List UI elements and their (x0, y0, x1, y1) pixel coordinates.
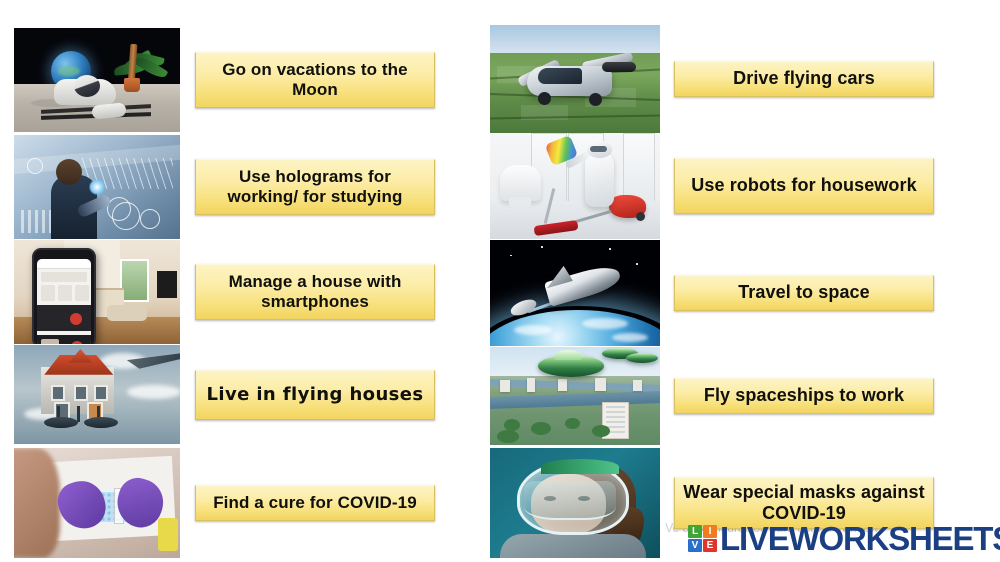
answer-label[interactable]: Go on vacations to the Moon (195, 52, 435, 108)
smart-home-phone-photo (14, 240, 180, 344)
logo-letter-v: V (688, 539, 702, 552)
list-item: Manage a house with smartphones (0, 240, 470, 344)
moon-vacation-photo (14, 28, 180, 132)
answer-label-text: Drive flying cars (733, 68, 875, 89)
logo-letter-e: E (703, 539, 717, 552)
answer-label[interactable]: Live in flying houses (195, 370, 435, 420)
left-column: Go on vacations to the Moon (0, 0, 470, 562)
logo-letter-l: L (688, 525, 702, 538)
list-item: Use robots for housework (480, 133, 1000, 239)
flying-car-photo (490, 25, 660, 133)
answer-label[interactable]: Drive flying cars (674, 61, 934, 97)
liveworksheets-mark-icon: L I V E (688, 525, 717, 552)
list-item: Fly spaceships to work (480, 347, 1000, 445)
answer-label[interactable]: Find a cure for COVID-19 (195, 485, 435, 521)
list-item: Use holograms for working/ for studying (0, 135, 470, 239)
list-item: Go on vacations to the Moon (0, 28, 470, 132)
list-item: Drive flying cars (480, 25, 1000, 133)
logo-letter-i: I (703, 525, 717, 538)
right-column: Drive flying cars (480, 0, 1000, 562)
answer-label[interactable]: Use robots for housework (674, 158, 934, 214)
answer-label-text: Live in flying houses (207, 384, 424, 405)
answer-label-text: Travel to space (738, 282, 870, 303)
answer-label-text: Fly spaceships to work (704, 385, 904, 406)
answer-label-text: Manage a house with smartphones (204, 272, 426, 312)
answer-label[interactable]: Use holograms for working/ for studying (195, 159, 435, 215)
list-item: Travel to space (480, 240, 1000, 346)
ufo-city-photo (490, 347, 660, 445)
list-item: Live in flying houses (0, 345, 470, 444)
logo-wordmark: LIVEWORKSHEETS (720, 522, 1000, 555)
answer-label[interactable]: Travel to space (674, 275, 934, 311)
answer-label[interactable]: Manage a house with smartphones (195, 264, 435, 320)
worksheet-canvas: Activar Windows Ve a Configuración para … (0, 0, 1000, 562)
flying-house-photo (14, 345, 180, 444)
answer-label-text: Wear special masks against COVID-19 (683, 482, 925, 524)
answer-label-text: Use robots for housework (691, 175, 916, 196)
protective-mask-photo (490, 448, 660, 558)
spaceship-orbit-photo (490, 240, 660, 346)
answer-label-text: Go on vacations to the Moon (204, 60, 426, 100)
housework-robot-photo (490, 133, 660, 239)
answer-label-text: Use holograms for working/ for studying (204, 167, 426, 207)
answer-label[interactable]: Fly spaceships to work (674, 378, 934, 414)
list-item: Find a cure for COVID-19 (0, 448, 470, 558)
hologram-technology-photo (14, 135, 180, 239)
covid-lab-research-photo (14, 448, 180, 558)
liveworksheets-logo[interactable]: L I V E LIVEWORKSHEETS (688, 522, 1000, 555)
answer-label-text: Find a cure for COVID-19 (213, 493, 417, 513)
